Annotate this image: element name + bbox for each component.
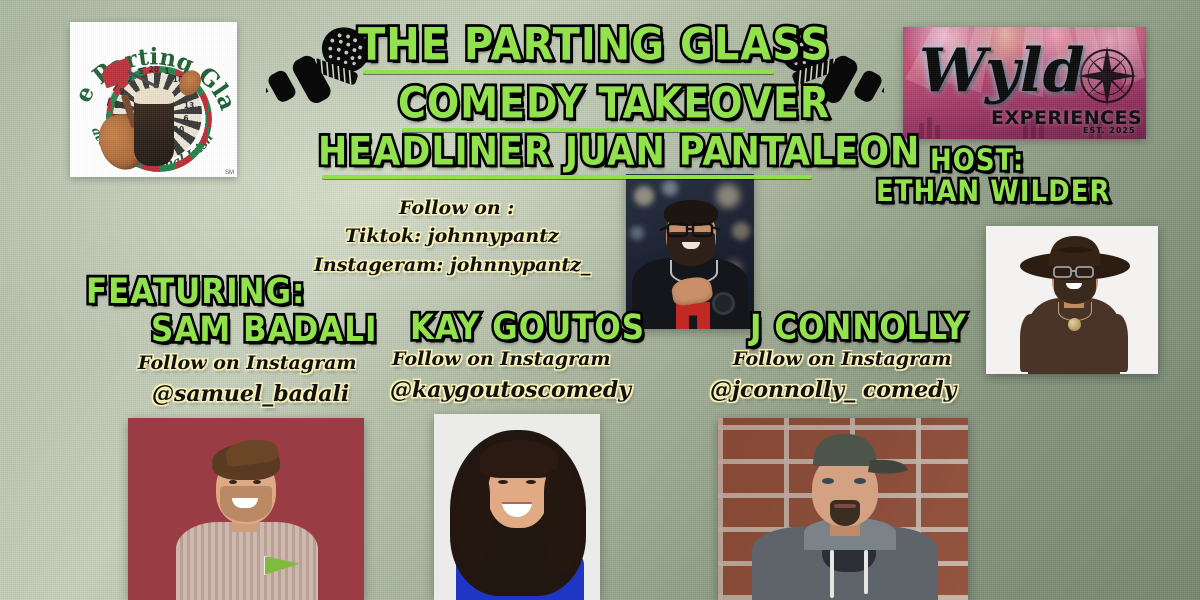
- headline-line-1: THE PARTING GLASS: [358, 21, 830, 68]
- performer-name-sam-badali: SAM BADALI: [151, 310, 378, 350]
- performer-follow-label-j-connolly: Follow on Instagram: [733, 348, 952, 370]
- event-poster: The Parting Glass Saratoga's Original Ir…: [0, 0, 1200, 600]
- headline-line-2: COMEDY TAKEOVER: [398, 81, 830, 126]
- svg-text:1: 1: [164, 67, 169, 76]
- pint-foam: [134, 88, 174, 104]
- headline-underline-3: [322, 175, 812, 179]
- headline-line-3: HEADLINER JUAN PANTALEON: [318, 131, 920, 174]
- photo-j-connolly: [718, 418, 968, 600]
- svg-text:13: 13: [184, 101, 194, 110]
- svg-text:5: 5: [138, 67, 143, 76]
- headline-underline-1: [363, 70, 774, 74]
- subject-eye-left: [229, 480, 237, 484]
- wyld-experiences-logo: Wyld EXPERIENCES LLC EST. 2025: [903, 27, 1146, 139]
- photo-juan-pantaleon: [626, 174, 754, 329]
- glasses-icon: [626, 174, 754, 329]
- performer-name-j-connolly: J CONNOLLY: [750, 308, 967, 348]
- pendant: [1068, 318, 1081, 331]
- performer-follow-label-kay-goutos: Follow on Instagram: [392, 348, 611, 370]
- performer-handle-sam-badali: @samuel_badali: [152, 381, 349, 407]
- svg-text:20: 20: [149, 65, 159, 74]
- svg-text:6: 6: [183, 114, 188, 123]
- performer-handle-kay-goutos: @kaygoutoscomedy: [390, 377, 631, 403]
- subject-eye-right: [526, 480, 536, 484]
- svg-text:10: 10: [174, 125, 184, 134]
- subject-hair-curl-left: [456, 474, 490, 568]
- photo-sam-badali: [128, 418, 364, 600]
- subject-eye-right: [253, 480, 261, 484]
- subject-eye-right: [854, 478, 866, 484]
- featuring-label: FEATURING:: [86, 272, 305, 312]
- photo-ethan-wilder: [986, 226, 1158, 374]
- subject-hair-curls: [480, 440, 558, 478]
- glasses-icon: [986, 226, 1158, 374]
- host-name: ETHAN WILDER: [876, 175, 1110, 209]
- subject-eye-left: [498, 480, 508, 484]
- headliner-tiktok-handle: Tiktok: johnnypantz: [345, 225, 559, 247]
- subject-torso: [176, 522, 318, 600]
- subject-eye-left: [822, 478, 834, 484]
- pint-glass-graphic: [134, 94, 174, 166]
- performer-handle-j-connolly: @jconnolly_ comedy: [710, 377, 956, 403]
- wristwatch: [712, 292, 735, 315]
- trademark-mark: SM: [225, 170, 234, 176]
- wyld-established: EST. 2025: [1083, 126, 1136, 135]
- headliner-instagram-handle: Instageram: johnnypantz_: [314, 254, 590, 276]
- performer-follow-label-sam-badali: Follow on Instagram: [138, 352, 357, 374]
- headliner-follow-intro: Follow on :: [399, 197, 514, 219]
- photo-kay-goutos: [434, 414, 600, 600]
- wyld-wordmark: Wyld: [919, 41, 1085, 101]
- subject-hair-curl-right: [544, 470, 582, 572]
- performer-name-kay-goutos: KAY GOUTOS: [410, 308, 645, 348]
- the-parting-glass-logo: The Parting Glass Saratoga's Original Ir…: [70, 22, 237, 177]
- subject-mouth: [834, 504, 856, 508]
- host-label: HOST:: [930, 144, 1024, 178]
